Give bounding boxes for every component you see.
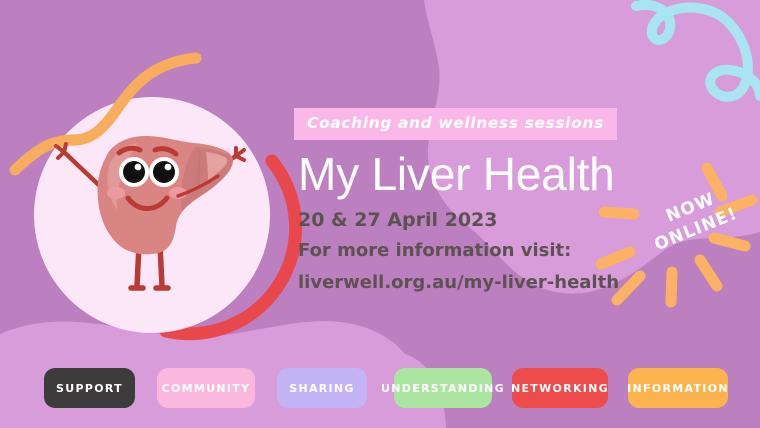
tag-label: INFORMATION <box>627 382 729 395</box>
tag-label: NETWORKING <box>511 382 609 395</box>
tag-support[interactable]: SUPPORT <box>44 368 135 408</box>
tag-label: COMMUNITY <box>162 382 251 395</box>
tag-sharing[interactable]: SHARING <box>277 368 367 408</box>
tag-label: UNDERSTANDING <box>381 382 505 395</box>
blue-squiggle <box>636 5 760 97</box>
tag-row: SUPPORTCOMMUNITYSHARINGUNDERSTANDINGNETW… <box>0 368 760 412</box>
ray-2 <box>720 200 752 212</box>
poster-canvas: Coaching and wellness sessions My Liver … <box>0 0 760 428</box>
info-prompt: For more information visit: <box>298 239 714 262</box>
tag-information[interactable]: INFORMATION <box>628 368 728 408</box>
tag-label: SUPPORT <box>56 382 123 395</box>
tag-community[interactable]: COMMUNITY <box>157 368 255 408</box>
eyebrow-text: Coaching and wellness sessions <box>307 114 604 132</box>
eyebrow-band: Coaching and wellness sessions <box>294 108 617 140</box>
event-dates: 20 & 27 April 2023 <box>298 211 714 230</box>
text-column: Coaching and wellness sessions My Liver … <box>294 108 714 294</box>
tag-networking[interactable]: NETWORKING <box>512 368 608 408</box>
tag-label: SHARING <box>289 382 355 395</box>
website-url[interactable]: liverwell.org.au/my-liver-health <box>298 271 714 294</box>
ray-3 <box>714 238 745 246</box>
tag-understanding[interactable]: UNDERSTANDING <box>394 368 492 408</box>
page-title: My Liver Health <box>298 151 714 197</box>
